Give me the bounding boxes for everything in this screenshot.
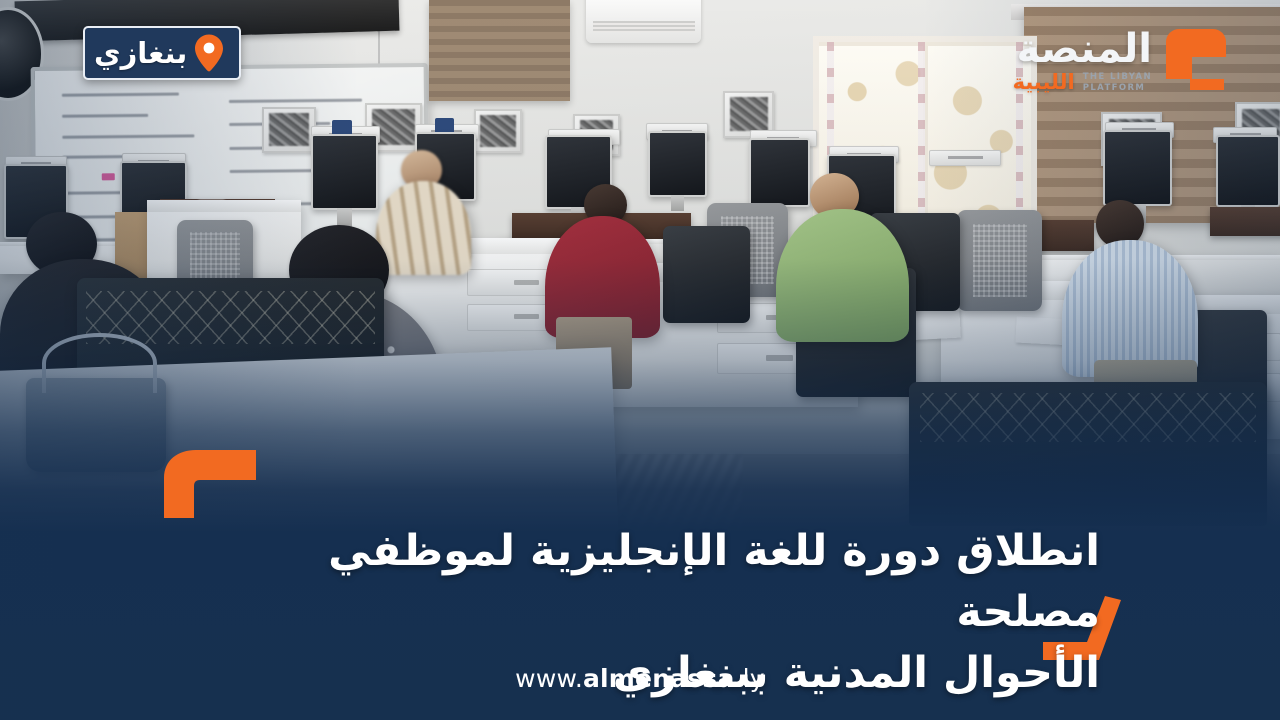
logo-english-line2: PLATFORM [1083, 83, 1152, 94]
news-card: بنغازي المنصة THE LIBYAN PLATFORM الليبي… [0, 0, 1280, 720]
website-url[interactable]: www.almenassa.ly [0, 664, 1280, 693]
logo-arabic-secondary: الليبية [1013, 72, 1075, 93]
map-pin-icon [194, 34, 224, 72]
orange-corner-bracket-top-left-icon [160, 448, 256, 518]
url-suffix: .ly [735, 664, 765, 693]
almenassa-bracket-mark-icon [1156, 25, 1232, 97]
url-brand: almenassa [583, 664, 735, 693]
site-logo[interactable]: المنصة THE LIBYAN PLATFORM الليبية [1013, 18, 1232, 104]
logo-arabic-primary: المنصة [1016, 29, 1152, 69]
location-label: بنغازي [94, 39, 187, 68]
url-prefix: www. [515, 664, 583, 693]
location-badge[interactable]: بنغازي [83, 26, 241, 80]
logo-english-line1: THE LIBYAN [1083, 72, 1152, 83]
logo-wordmark: المنصة THE LIBYAN PLATFORM الليبية [1013, 29, 1152, 93]
logo-english-lines: THE LIBYAN PLATFORM [1083, 72, 1152, 93]
headline-line-1: انطلاق دورة للغة الإنجليزية لموظفي مصلحة [170, 521, 1100, 643]
